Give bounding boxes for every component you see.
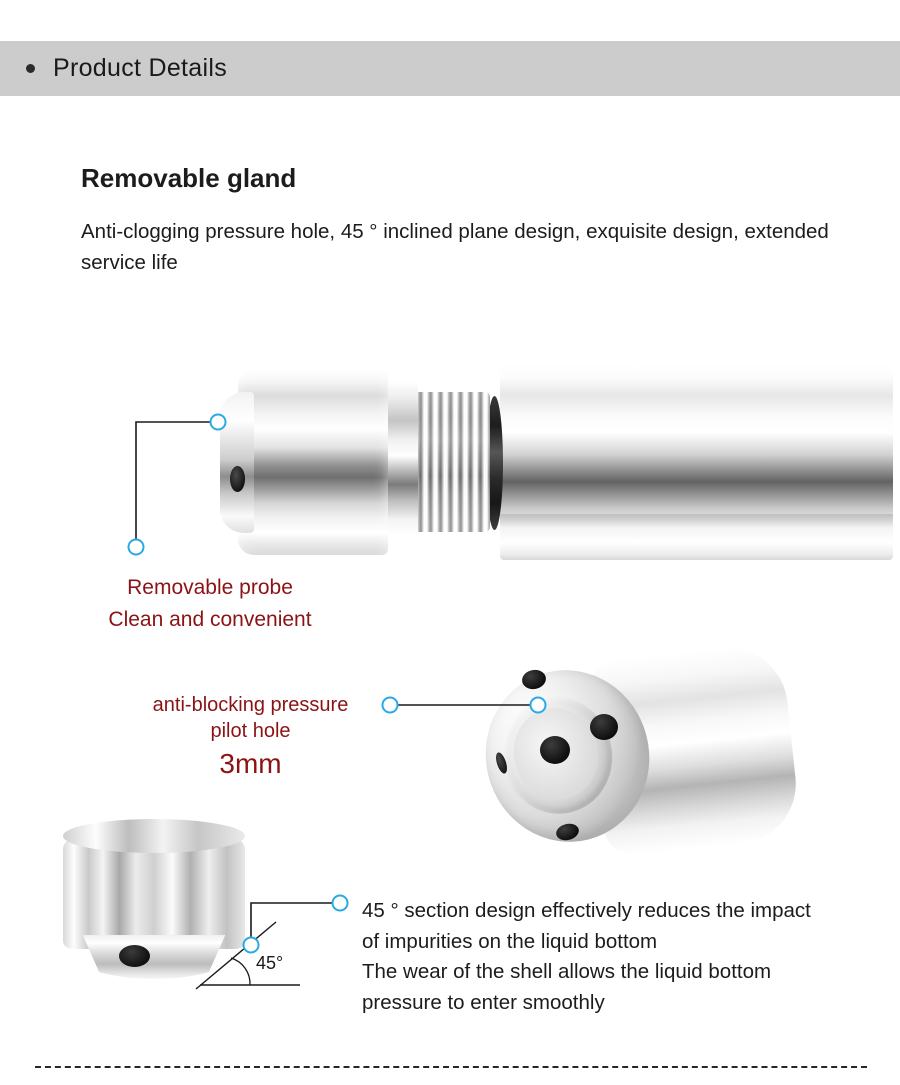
marker-circle-chamfer-caption (333, 896, 348, 911)
angle-arc (231, 958, 250, 985)
angle-label-45: 45° (256, 953, 283, 974)
marker-circle-chamfer-edge (244, 938, 259, 953)
chamfer-description-paragraph-2: The wear of the shell allows the liquid … (362, 957, 832, 1018)
chamfer-description-paragraph-1: 45 ° section design effectively reduces … (362, 896, 832, 957)
chamfer-description: 45 ° section design effectively reduces … (362, 896, 832, 1018)
product-details-page: Product Details Removable gland Anti-clo… (0, 0, 900, 1085)
footer-divider (35, 1066, 867, 1068)
